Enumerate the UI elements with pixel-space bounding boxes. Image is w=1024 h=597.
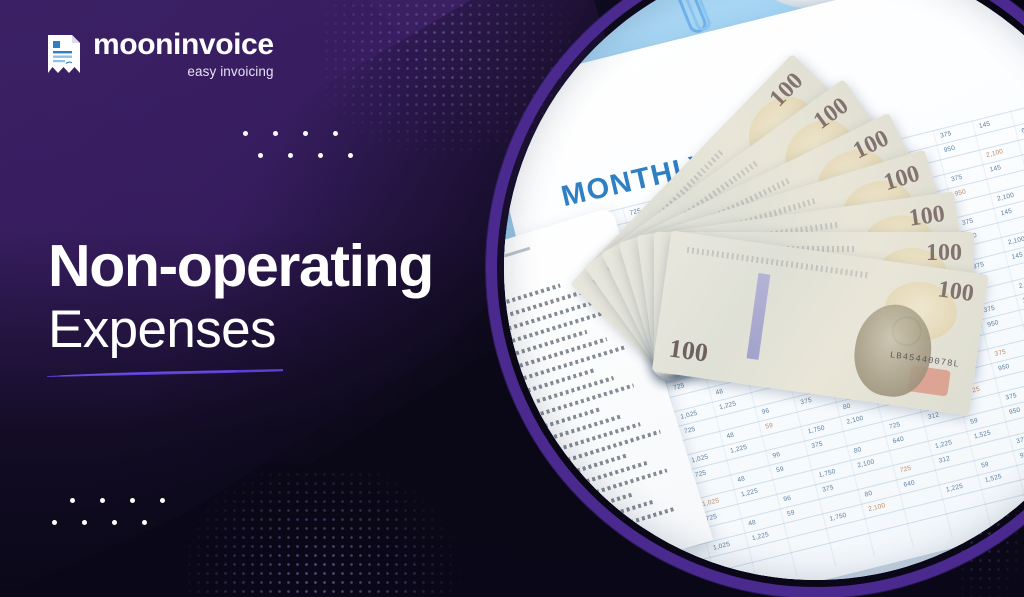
- bill-denomination-corner: 100: [881, 161, 923, 197]
- decorative-dot: [160, 498, 165, 503]
- decorative-dot: [52, 520, 57, 525]
- headline-line-1: Non-operating: [48, 236, 433, 296]
- bill-denomination-corner: 100: [907, 201, 946, 233]
- decorative-dot: [112, 520, 117, 525]
- headline-line-2: Expenses: [48, 302, 433, 358]
- headline-underline-accent: [46, 368, 284, 377]
- brand-logo[interactable]: mooninvoice easy invoicing: [46, 30, 274, 79]
- decorative-dot: [82, 520, 87, 525]
- decorative-dot: [70, 498, 75, 503]
- decorative-dot: [273, 131, 278, 136]
- decorative-dot: [333, 131, 338, 136]
- bill-denomination-corner: 100: [926, 240, 962, 267]
- hero-photo: MONTHLY BUDGET 1457259637572531237514580…: [504, 0, 1024, 580]
- decorative-dot: [303, 131, 308, 136]
- decorative-dot: [100, 498, 105, 503]
- bill-denomination-corner: 100: [936, 276, 975, 308]
- decorative-dot: [130, 498, 135, 503]
- page-title: Non-operating Expenses: [48, 236, 433, 358]
- bill-security-band: [747, 273, 771, 360]
- decorative-dot: [243, 131, 248, 136]
- bill-denomination: 100: [667, 333, 710, 368]
- decorative-dot: [142, 520, 147, 525]
- decorative-dots-upper: [243, 131, 363, 167]
- promo-banner: MONTHLY BUDGET 1457259637572531237514580…: [0, 0, 1024, 597]
- decorative-dots-lower: [52, 498, 172, 534]
- decorative-dot: [258, 153, 263, 158]
- decorative-dot: [288, 153, 293, 158]
- invoice-document-icon: [46, 33, 82, 75]
- brand-name: mooninvoice: [93, 30, 274, 60]
- decorative-dot: [318, 153, 323, 158]
- brand-tagline: easy invoicing: [187, 65, 273, 79]
- decorative-dot: [348, 153, 353, 158]
